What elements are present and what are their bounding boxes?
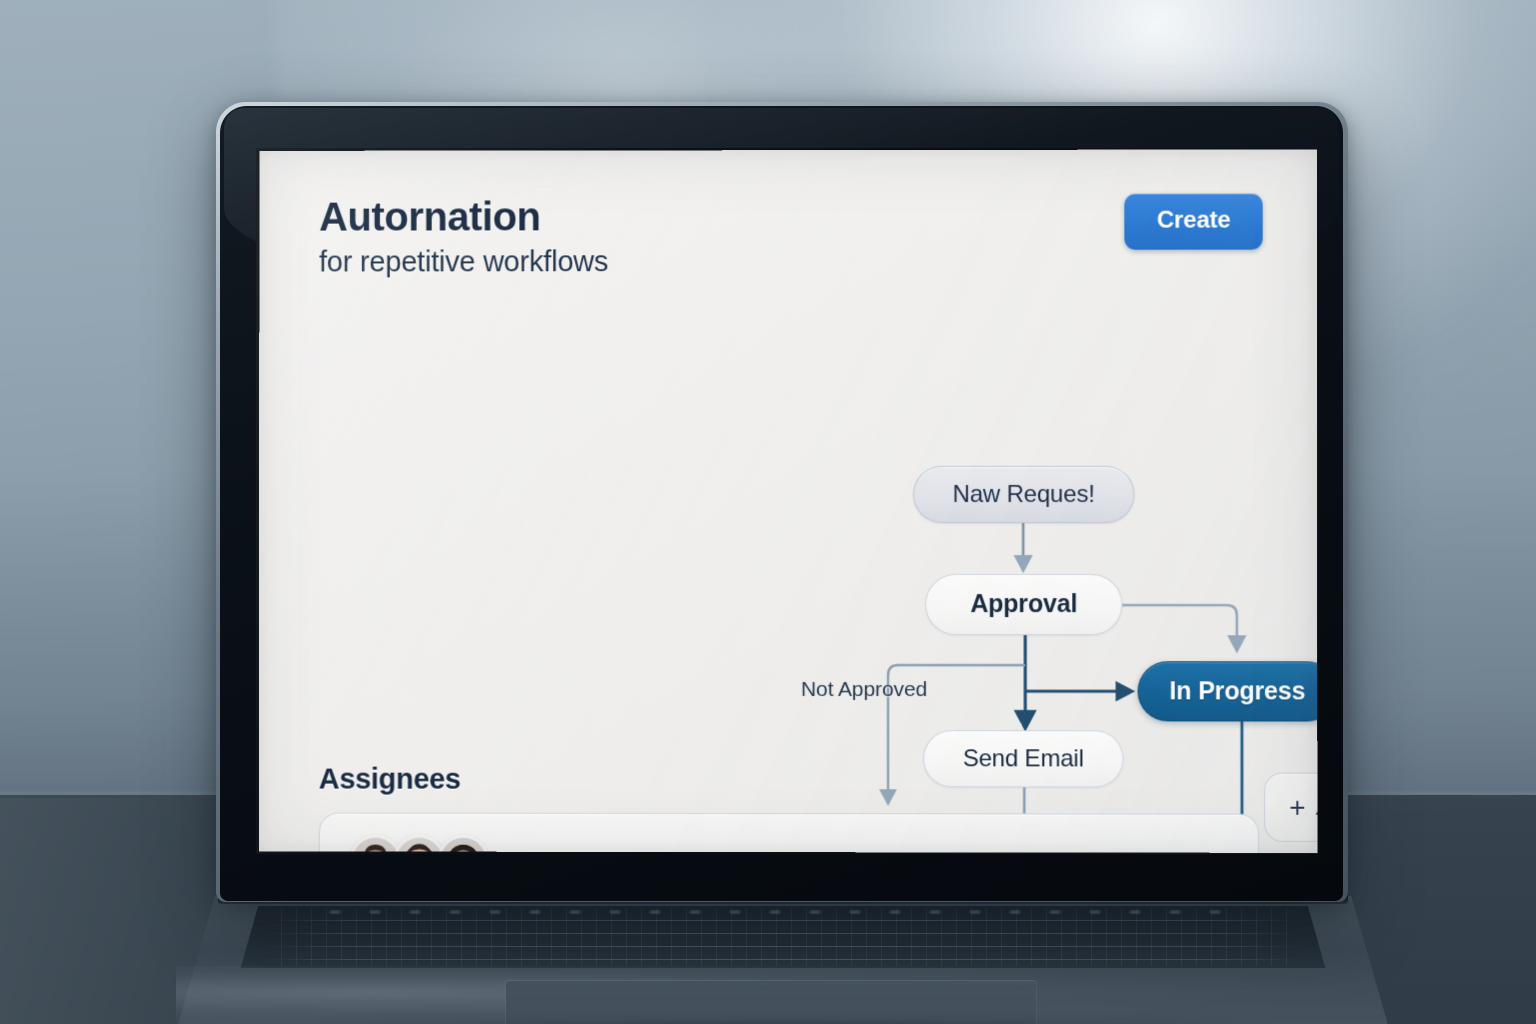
avatar[interactable] [350,835,402,853]
female-avatar-icon [440,838,486,853]
workflow-connectors [259,149,1317,852]
flow-node-new-request[interactable]: Naw Reques! [913,466,1134,523]
trackpad[interactable] [506,980,1036,1024]
laptop-lid: Autornation for repetitive workflows Cre… [216,102,1348,902]
assignees-card[interactable] [319,813,1259,853]
avatar[interactable] [437,835,489,853]
keyboard-rows [234,906,1332,968]
edge-label-not-approved: Not Approved [801,678,927,702]
laptop-base [176,896,1390,1024]
male-avatar-icon [353,838,399,853]
keyboard-backlight-glint [300,911,1222,913]
assignee-avatar-group [350,835,490,853]
automation-app: Autornation for repetitive workflows Cre… [259,149,1317,852]
assignees-heading: Assignees [319,764,461,797]
add-condition-button[interactable]: + Add condition [1264,773,1317,842]
keyboard-well[interactable] [234,906,1332,968]
flow-node-approval[interactable]: Approval [925,574,1122,635]
screen-viewport: Autornation for repetitive workflows Cre… [259,149,1317,852]
photo-scene: Autornation for repetitive workflows Cre… [0,0,1536,1024]
female-avatar-icon [396,838,442,853]
workflow-canvas[interactable]: Naw Reques! Approval In Progress Send Em… [259,149,1317,852]
plus-icon: + [1289,793,1305,821]
avatar[interactable] [393,835,445,853]
add-condition-label: Add condition [1316,793,1318,821]
flow-node-send-email[interactable]: Send Email [923,730,1123,787]
flow-node-in-progress[interactable]: In Progress [1138,661,1318,721]
